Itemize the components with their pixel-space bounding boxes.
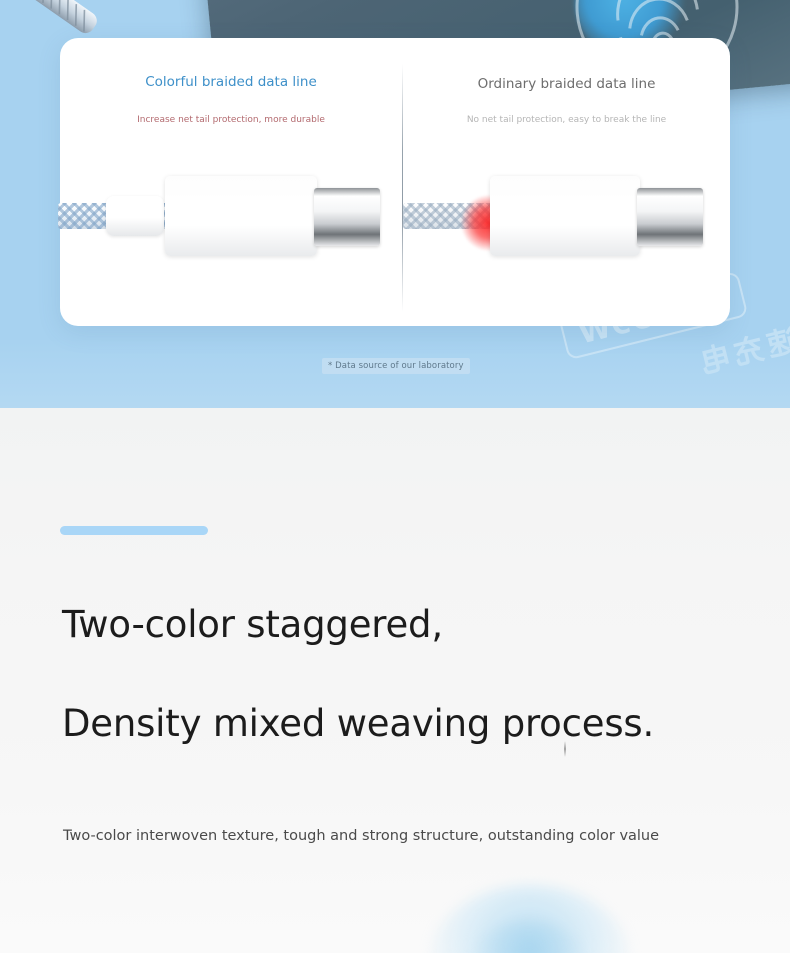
- panel-colorful-braided: Colorful braided data line Increase net …: [60, 38, 402, 126]
- ordinary-braided-cable-image: [403, 165, 733, 265]
- panel-title-colorful: Colorful braided data line: [60, 74, 402, 90]
- cable-connector-tip-right: [637, 188, 703, 246]
- accent-bar: [60, 526, 208, 535]
- panel-title-ordinary: Ordinary braided data line: [403, 76, 730, 92]
- panel-subtitle-colorful: Increase net tail protection, more durab…: [60, 114, 402, 126]
- cable-connector-body-right: [490, 176, 640, 256]
- cable-connector-tip-left: [314, 188, 380, 246]
- decorative-tick-mark: [564, 741, 566, 757]
- feature-subcopy: Two-color interwoven texture, tough and …: [63, 826, 659, 846]
- feature-section: Two-color staggered, Density mixed weavi…: [0, 408, 790, 953]
- panel-divider: [402, 64, 403, 312]
- colorful-braided-cable-image: [58, 165, 398, 265]
- headline-line-2: Density mixed weaving process.: [62, 702, 654, 746]
- footnote-data-source: * Data source of our laboratory: [322, 358, 470, 374]
- cable-strain-relief: [106, 196, 164, 236]
- panel-subtitle-ordinary: No net tail protection, easy to break th…: [403, 114, 730, 126]
- headline-line-1: Two-color staggered,: [62, 603, 443, 647]
- panel-ordinary-braided: Ordinary braided data line No net tail p…: [403, 38, 730, 126]
- cable-connector-body-left: [165, 176, 317, 256]
